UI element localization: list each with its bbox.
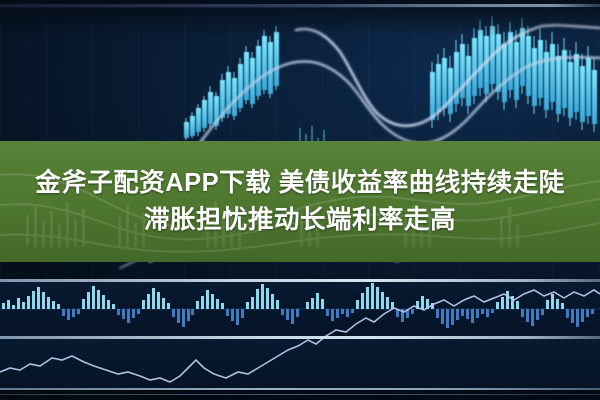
macd-histogram	[0, 283, 600, 328]
headline-text-block: 金斧子配资APP下载 美债收益率曲线持续走陡 滞胀担忧推动长端利率走高	[0, 141, 600, 262]
banner-image: 金斧子配资APP下载 美债收益率曲线持续走陡 滞胀担忧推动长端利率走高	[0, 0, 600, 400]
panel-separator-middle	[0, 336, 600, 339]
panel-separator-footer	[0, 394, 600, 395]
panel-separator-bottom	[0, 388, 600, 390]
headline-line-1: 金斧子配资APP下载 美债收益率曲线持续走陡	[35, 168, 565, 198]
headline-line-2: 滞胀担忧推动长端利率走高	[144, 205, 456, 235]
panel-separator-top	[0, 279, 600, 282]
